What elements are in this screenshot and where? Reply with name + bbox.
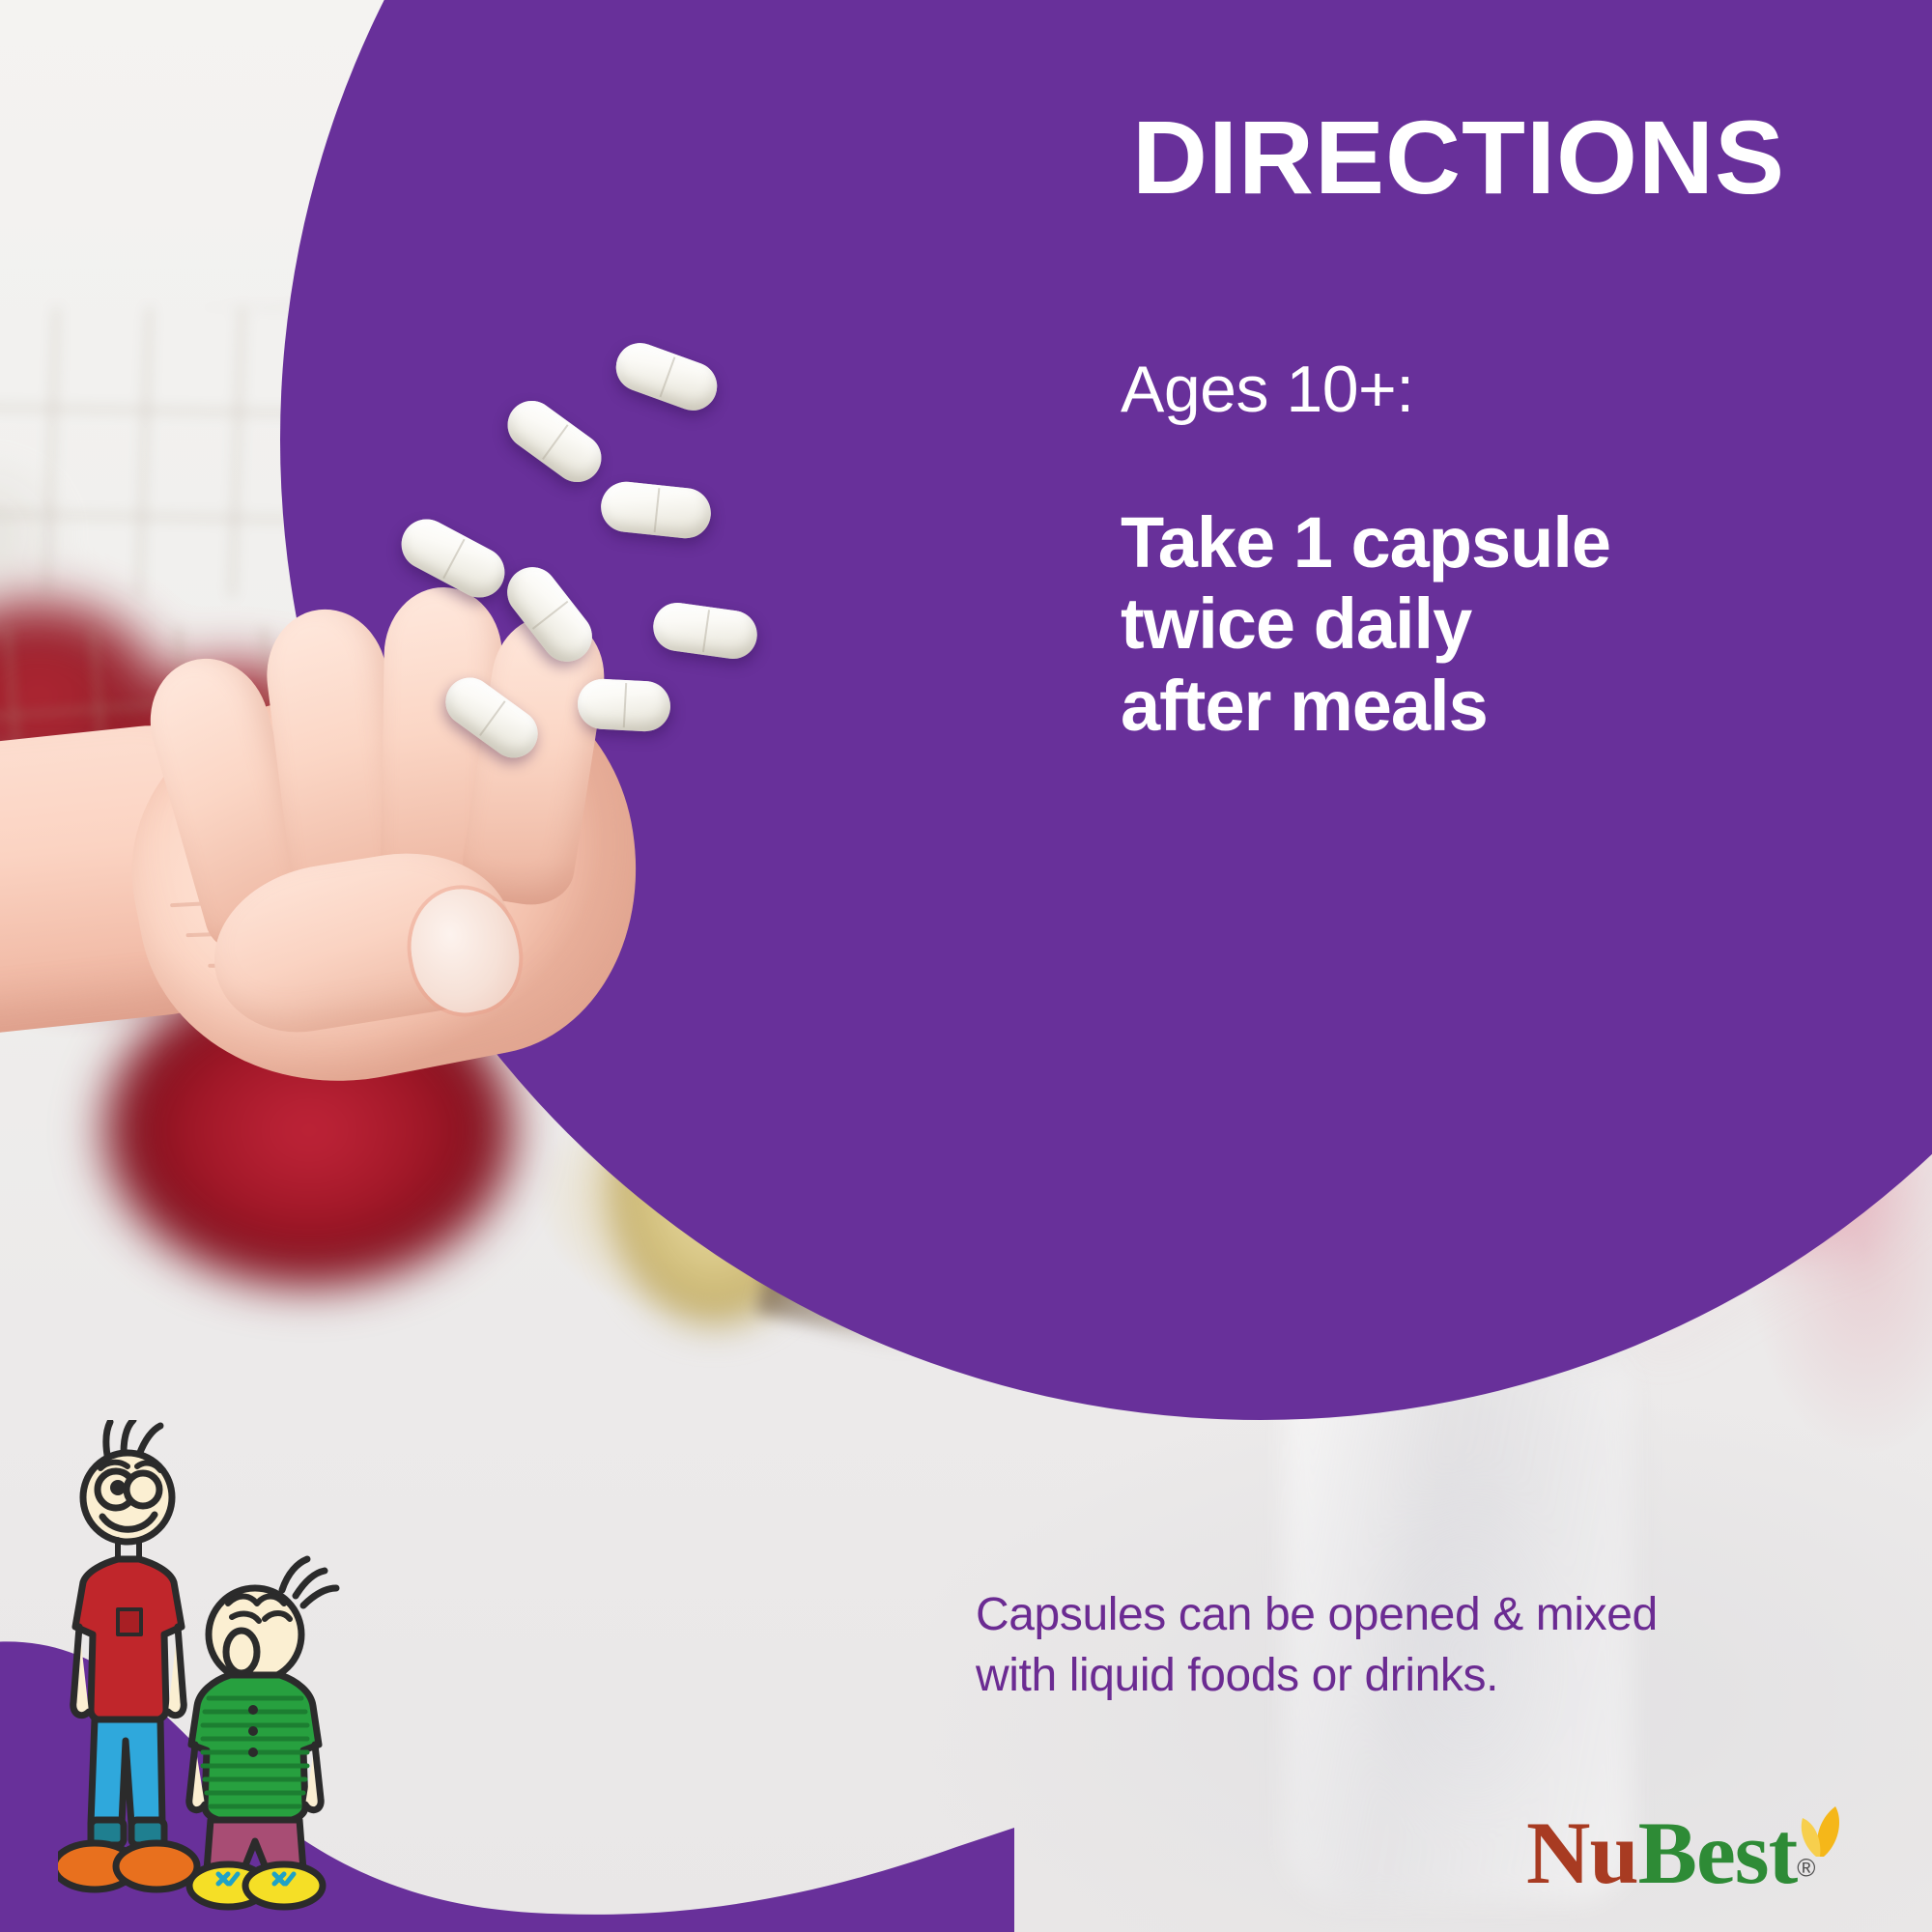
capsule-note-line-1: Capsules can be opened & mixed (976, 1584, 1845, 1645)
ages-label: Ages 10+: (1121, 355, 1414, 424)
kid-tall (58, 1420, 197, 1889)
nubest-logo: NuBest® (1526, 1808, 1913, 1915)
directions-poster: DIRECTIONS Ages 10+: Take 1 capsule twic… (0, 0, 1932, 1932)
logo-nu-text: Nu (1526, 1804, 1638, 1902)
dosage-line-1: Take 1 capsule (1121, 502, 1855, 583)
cartoon-kids (58, 1420, 386, 1932)
leaf-icon (1779, 1803, 1857, 1866)
logo-best-text: Best (1638, 1804, 1798, 1902)
kid-short (189, 1559, 336, 1907)
capsule-note: Capsules can be opened & mixed with liqu… (976, 1584, 1845, 1707)
capsule-8 (577, 678, 672, 733)
dosage-line-2: twice daily (1121, 583, 1855, 665)
dosage-instructions: Take 1 capsule twice daily after meals (1121, 502, 1855, 747)
capsule-note-line-2: with liquid foods or drinks. (976, 1645, 1845, 1706)
page-title: DIRECTIONS (985, 104, 1932, 211)
dosage-line-3: after meals (1121, 666, 1855, 747)
